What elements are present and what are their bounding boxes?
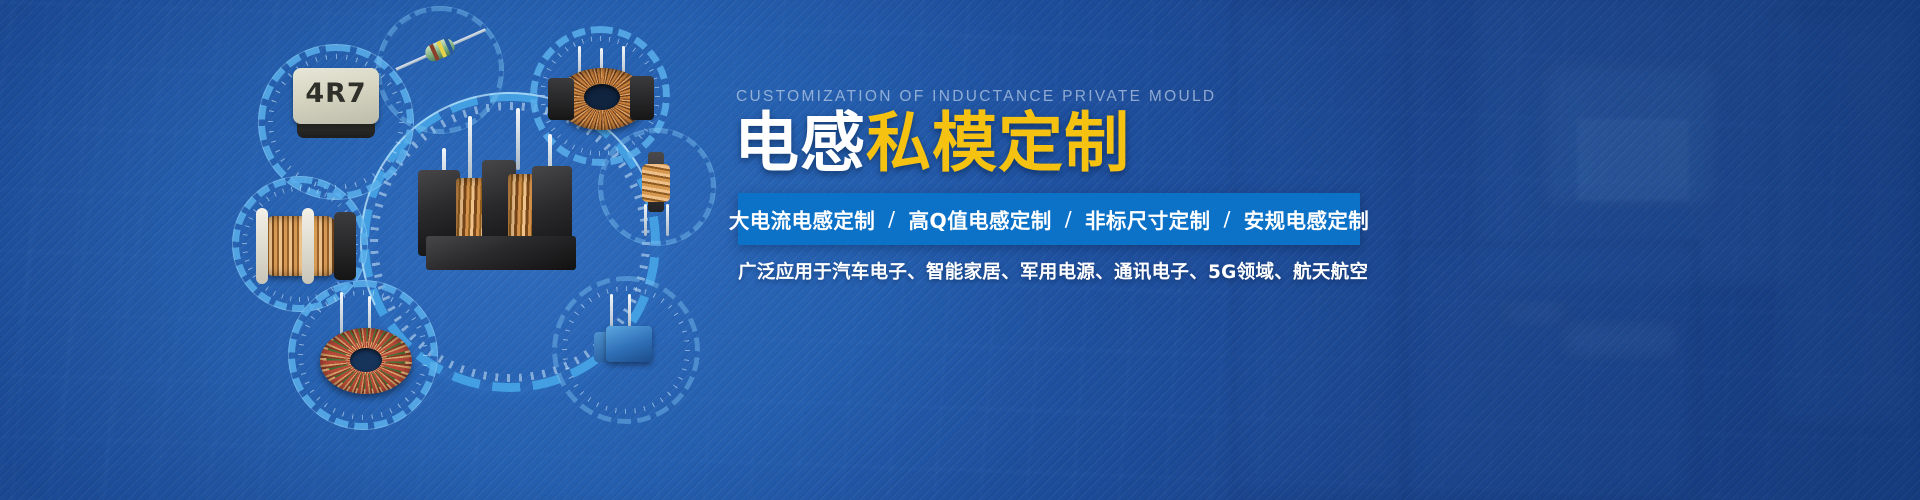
promo-banner: 4R7: [0, 0, 1920, 500]
feature-item-0[interactable]: 大电流电感定制: [729, 204, 875, 234]
feature-item-2[interactable]: 非标尺寸定制: [1085, 204, 1210, 234]
feature-list-bar: 大电流电感定制/高Q值电感定制/非标尺寸定制/安规电感定制: [738, 193, 1360, 245]
axial-lead-right: [452, 28, 486, 45]
feature-separator: /: [1052, 207, 1085, 231]
product-smd-power-inductor: 4R7: [287, 64, 385, 146]
choke-pin: [468, 116, 472, 186]
product-green-toroid-coil: [310, 292, 424, 400]
banner-text-block: CUSTOMIZATION OF INDUCTANCE PRIVATE MOUL…: [736, 0, 1376, 500]
bobbin-core: [334, 212, 356, 280]
product-blue-radial-inductor: [580, 294, 672, 386]
feature-item-1[interactable]: 高Q值电感定制: [908, 204, 1051, 234]
banner-description-text: 广泛应用于汽车电子、智能家居、军用电源、通讯电子、5G领域、航天航空: [738, 258, 1368, 284]
bobbin-flange: [256, 208, 268, 284]
rod-winding: [642, 164, 670, 202]
rod-pin: [644, 204, 647, 236]
product-rod-core-choke: [624, 146, 690, 236]
feature-separator: /: [1210, 207, 1243, 231]
headline-white-part: 电感: [734, 106, 866, 181]
bobbin-winding: [264, 216, 336, 276]
axial-lead-left: [395, 53, 429, 70]
choke-pin: [516, 108, 520, 170]
toroid-center-hole: [584, 84, 620, 110]
toroid-housing: [630, 76, 654, 120]
rod-pin: [666, 204, 669, 236]
feature-separator: /: [875, 207, 908, 231]
feature-list-inner: 大电流电感定制/高Q值电感定制/非标尺寸定制/安规电感定制: [729, 204, 1369, 234]
choke-base: [426, 236, 576, 270]
banner-eyebrow-text: CUSTOMIZATION OF INDUCTANCE PRIVATE MOUL…: [736, 88, 1216, 106]
smd-part-label: 4R7: [293, 78, 379, 109]
green-toroid-center-hole: [350, 348, 382, 372]
product-common-mode-choke-cluster: [408, 108, 594, 278]
headline-yellow-part: 私模定制: [866, 106, 1130, 181]
bobbin-flange: [302, 208, 314, 284]
banner-headline: 电感私模定制: [734, 110, 1130, 178]
blue-part-body: [606, 326, 652, 362]
smd-body: 4R7: [293, 68, 379, 124]
product-bobbin-coil: [250, 196, 358, 292]
feature-item-3[interactable]: 安规电感定制: [1244, 204, 1369, 234]
